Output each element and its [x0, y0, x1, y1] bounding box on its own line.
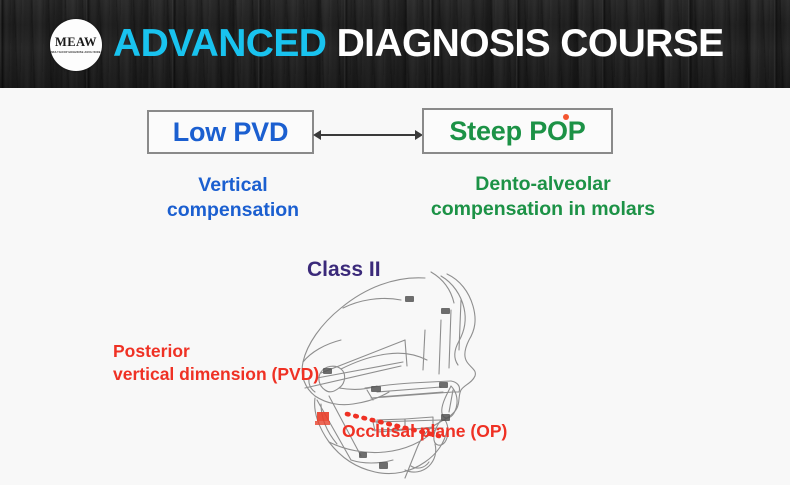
red-dot-icon [563, 114, 569, 120]
low-pvd-label: Low PVD [173, 117, 289, 148]
logo-subtext: MULTILOOP EDGEWISE ARCH WIRE [51, 51, 101, 54]
low-pvd-caption-line2: compensation [138, 198, 328, 223]
arrow-shaft [319, 134, 417, 136]
title-plain-text: DIAGNOSIS COURSE [337, 22, 724, 65]
steep-pop-caption-line1: Dento-alveolar [393, 172, 693, 197]
class-ii-label: Class II [307, 258, 381, 282]
steep-pop-label-wrap: Steep POP [449, 116, 585, 147]
pvd-annotation-line2: vertical dimension (PVD) [113, 363, 319, 386]
bidirectional-arrow [313, 134, 423, 136]
pvd-annotation-line1: Posterior [113, 340, 319, 363]
low-pvd-caption-line1: Vertical [138, 173, 328, 198]
low-pvd-box: Low PVD [147, 110, 314, 154]
steep-pop-label: Steep POP [449, 116, 585, 146]
slide-canvas: MEAW MULTILOOP EDGEWISE ARCH WIRE ADVANC… [0, 0, 790, 485]
low-pvd-caption: Vertical compensation [138, 173, 328, 223]
steep-pop-caption: Dento-alveolar compensation in molars [393, 172, 693, 222]
pvd-red-marker [315, 412, 330, 425]
steep-pop-box: Steep POP [422, 108, 613, 154]
header-content: MEAW MULTILOOP EDGEWISE ARCH WIRE ADVANC… [0, 0, 790, 88]
header-banner: MEAW MULTILOOP EDGEWISE ARCH WIRE ADVANC… [0, 0, 790, 88]
meaw-logo: MEAW MULTILOOP EDGEWISE ARCH WIRE [50, 19, 102, 71]
op-annotation-label: Occlusal plane (OP) [342, 421, 507, 442]
logo-label: MEAW [55, 36, 97, 49]
pvd-annotation-label: Posterior vertical dimension (PVD) [113, 340, 319, 386]
title-accent-text: ADVANCED [113, 22, 326, 65]
page-title: ADVANCED DIAGNOSIS COURSE [113, 21, 724, 67]
steep-pop-caption-line2: compensation in molars [393, 197, 693, 222]
